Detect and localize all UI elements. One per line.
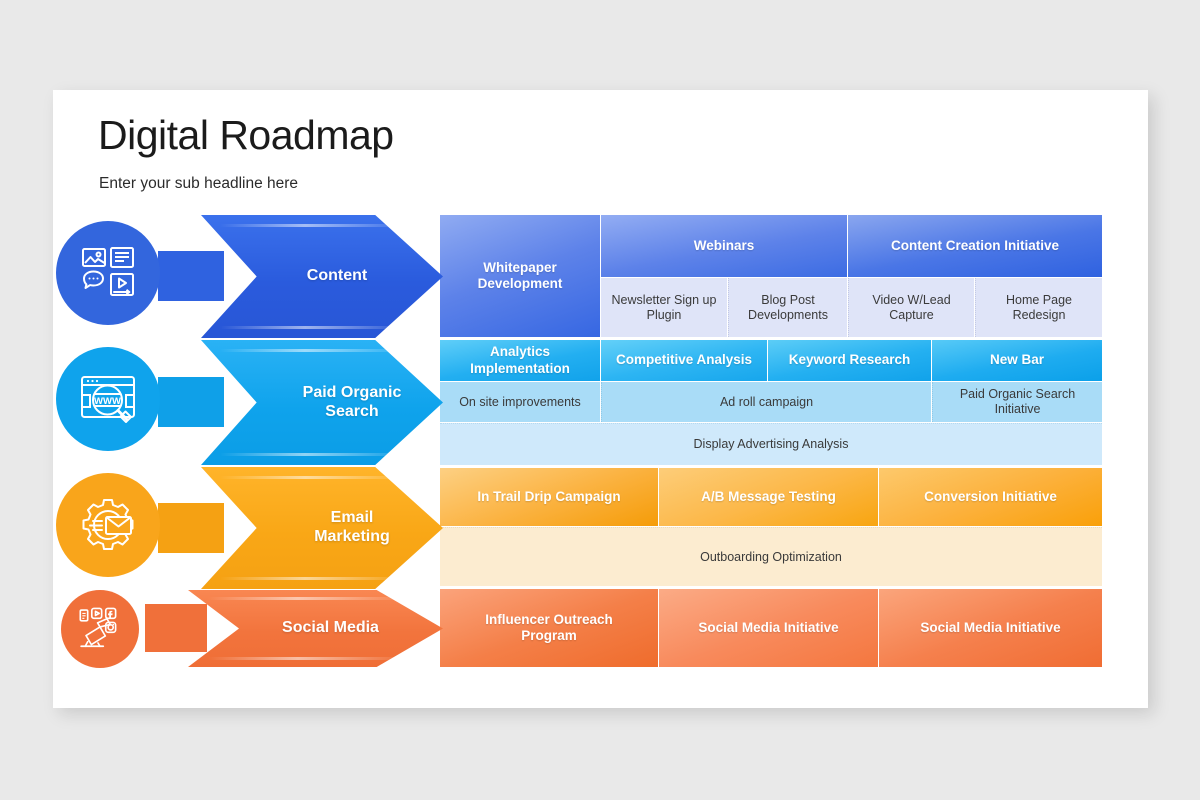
lane-arrow-social-media[interactable]: Social Media	[188, 590, 443, 667]
page-title: Digital Roadmap	[98, 112, 394, 159]
cell-label: Newsletter Sign up Plugin	[612, 293, 717, 323]
lane-social-media[interactable]: Social Media	[53, 590, 443, 667]
grid-row-email-marketing: In Trail Drip Campaign A/B Message Testi…	[440, 468, 1102, 586]
cell-label: Content Creation Initiative	[891, 238, 1059, 254]
cell-label: Conversion Initiative	[924, 489, 1057, 505]
grid-cell-new-bar[interactable]: New Bar	[932, 340, 1102, 381]
cell-label: Display Advertising Analysis	[694, 437, 849, 452]
grid-cell-influencer-outreach-program[interactable]: Influencer Outreach Program	[440, 589, 658, 667]
cell-label: Competitive Analysis	[616, 352, 752, 368]
lane-label-social-media: Social Media	[252, 619, 379, 638]
cell-label: Home Page Redesign	[1006, 293, 1072, 323]
cell-label: Whitepaper Development	[478, 260, 563, 292]
www-search-browser-icon: WWW	[79, 370, 137, 428]
grid-row-social-media: Influencer Outreach Program Social Media…	[440, 589, 1102, 667]
grid-cell-ad-roll-campaign[interactable]: Ad roll campaign	[601, 382, 931, 422]
grid-cell-webinars[interactable]: Webinars	[601, 215, 847, 277]
lane-connector-stub	[145, 604, 207, 652]
grid-cell-on-site-improvements[interactable]: On site improvements	[440, 382, 600, 422]
lane-icon-social-media[interactable]	[61, 590, 139, 668]
cell-label: Influencer Outreach Program	[485, 612, 613, 644]
arrow-shine-bottom	[220, 453, 409, 456]
content-media-grid-icon	[80, 245, 136, 301]
cell-label: New Bar	[990, 352, 1044, 368]
lane-arrow-content[interactable]: Content	[201, 215, 443, 338]
cell-label: On site improvements	[459, 395, 581, 410]
cell-label: Social Media Initiative	[920, 620, 1060, 636]
roadmap-grid: Whitepaper Development Webinars Content …	[440, 215, 1102, 667]
grid-cell-in-trail-drip-campaign[interactable]: In Trail Drip Campaign	[440, 468, 658, 526]
arrow-shine-top	[220, 349, 409, 352]
cell-label: Social Media Initiative	[698, 620, 838, 636]
lane-paid-organic-search[interactable]: Paid Organic Search WWW	[53, 340, 443, 465]
cell-label: Webinars	[694, 238, 755, 254]
lane-icon-email-marketing[interactable]	[56, 473, 160, 577]
cell-label: Ad roll campaign	[720, 395, 813, 410]
lane-arrow-paid-organic-search[interactable]: Paid Organic Search	[201, 340, 443, 465]
lane-connector-stub	[158, 377, 224, 427]
arrow-shine-top	[220, 224, 409, 227]
gear-envelope-icon	[79, 496, 137, 554]
arrow-shine-top	[220, 476, 409, 479]
grid-cell-keyword-research[interactable]: Keyword Research	[768, 340, 931, 381]
cell-label: Blog Post Developments	[748, 293, 828, 323]
lane-label-email-marketing: Email Marketing	[254, 509, 390, 547]
grid-cell-social-media-initiative-1[interactable]: Social Media Initiative	[659, 589, 878, 667]
grid-cell-analytics-implementation[interactable]: Analytics Implementation	[440, 340, 600, 381]
arrow-shine-top	[208, 597, 407, 600]
cell-label: In Trail Drip Campaign	[477, 489, 620, 505]
cell-label: Outboarding Optimization	[700, 550, 842, 565]
lane-content[interactable]: Content	[53, 215, 443, 338]
grid-cell-video-wlead-capture[interactable]: Video W/Lead Capture	[848, 278, 974, 337]
page-subtitle: Enter your sub headline here	[99, 175, 298, 193]
lane-connector-stub	[158, 251, 224, 301]
lane-email-marketing[interactable]: Email Marketing	[53, 467, 443, 589]
grid-cell-whitepaper-development[interactable]: Whitepaper Development	[440, 215, 600, 337]
slide-canvas: Digital Roadmap Enter your sub headline …	[53, 90, 1148, 708]
lane-arrow-email-marketing[interactable]: Email Marketing	[201, 467, 443, 589]
grid-row-paid-organic-search: Analytics Implementation Competitive Ana…	[440, 340, 1102, 465]
lane-label-paid-organic-search: Paid Organic Search	[243, 384, 402, 422]
arrow-shine-bottom	[220, 577, 409, 580]
cell-label: Keyword Research	[789, 352, 911, 368]
megaphone-social-icon	[77, 606, 123, 652]
arrow-shine-bottom	[220, 326, 409, 329]
grid-cell-home-page-redesign[interactable]: Home Page Redesign	[975, 278, 1102, 337]
grid-cell-social-media-initiative-2[interactable]: Social Media Initiative	[879, 589, 1102, 667]
arrow-shine-bottom	[208, 657, 407, 660]
lane-label-content: Content	[277, 267, 367, 286]
grid-cell-blog-post-developments[interactable]: Blog Post Developments	[728, 278, 847, 337]
grid-cell-content-creation-initiative[interactable]: Content Creation Initiative	[848, 215, 1102, 277]
cell-label: A/B Message Testing	[701, 489, 836, 505]
svg-text:WWW: WWW	[94, 396, 121, 407]
lane-connector-stub	[158, 503, 224, 553]
grid-cell-ab-message-testing[interactable]: A/B Message Testing	[659, 468, 878, 526]
lane-icon-paid-organic-search[interactable]: WWW	[56, 347, 160, 451]
lane-icon-content[interactable]	[56, 221, 160, 325]
cell-label: Video W/Lead Capture	[872, 293, 950, 323]
grid-cell-outboarding-optimization[interactable]: Outboarding Optimization	[440, 527, 1102, 586]
grid-cell-newsletter-signup-plugin[interactable]: Newsletter Sign up Plugin	[601, 278, 727, 337]
grid-cell-competitive-analysis[interactable]: Competitive Analysis	[601, 340, 767, 381]
grid-row-content: Whitepaper Development Webinars Content …	[440, 215, 1102, 337]
cell-label: Analytics Implementation	[470, 344, 570, 376]
cell-label: Paid Organic Search Initiative	[960, 387, 1075, 417]
grid-cell-conversion-initiative[interactable]: Conversion Initiative	[879, 468, 1102, 526]
grid-cell-display-advertising-analysis[interactable]: Display Advertising Analysis	[440, 423, 1102, 465]
grid-cell-paid-organic-search-initiative[interactable]: Paid Organic Search Initiative	[932, 382, 1102, 422]
